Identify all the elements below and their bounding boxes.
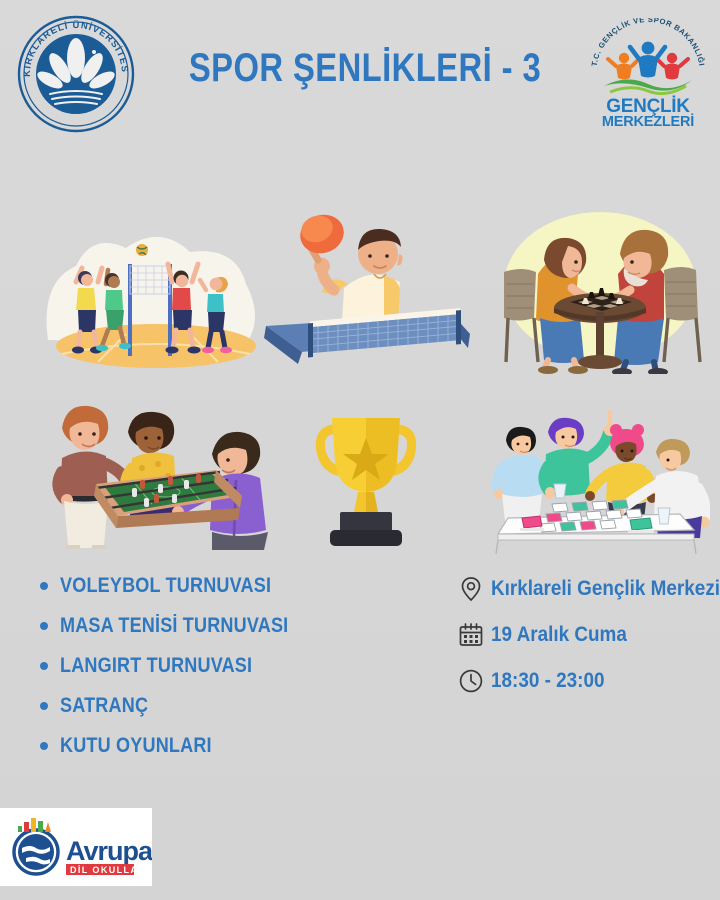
event-label: LANGIRT TURNUVASI [60,654,252,678]
location-text: Kırklareli Gençlik Merkezi [491,577,720,601]
time-text: 18:30 - 23:00 [491,669,604,693]
event-list: VOLEYBOL TURNUVASI MASA TENİSİ TURNUVASI… [40,566,370,766]
sponsor-logos: Avrupa DİL OKULLARI [0,796,720,900]
table-tennis-illustration [256,198,488,372]
avrupa-wordmark: Avrupa [66,836,152,866]
date-text: 19 Aralık Cuma [491,623,627,647]
event-details: Kırklareli Gençlik Merkezi 19 Aralık Cum… [458,566,718,704]
calendar-icon [458,622,484,648]
location-pin-icon [458,576,484,602]
trophy-illustration [302,396,430,552]
poster-header: KIRKLARELİ ÜNİVERSİTESİ 2007 SPOR ŞENLİK… [0,0,720,148]
date-row: 19 Aralık Cuma [458,612,718,658]
event-label: KUTU OYUNLARI [60,734,212,758]
list-item: MASA TENİSİ TURNUVASI [40,606,370,646]
genclik-merkezleri-logo: T.C. GENÇLİK VE SPOR BAKANLIĞI [586,18,710,130]
bullet-icon [40,662,48,670]
time-row: 18:30 - 23:00 [458,658,718,704]
list-item: SATRANÇ [40,686,370,726]
clock-icon [458,668,484,694]
bullet-icon [40,702,48,710]
chess-illustration [492,204,708,374]
bullet-icon [40,582,48,590]
list-item: LANGIRT TURNUVASI [40,646,370,686]
avrupa-subtitle: DİL OKULLARI [70,865,150,875]
event-label: SATRANÇ [60,694,148,718]
page-title: SPOR ŞENLİKLERİ - 3 [197,36,533,100]
event-label: MASA TENİSİ TURNUVASI [60,614,288,638]
location-row: Kırklareli Gençlik Merkezi [458,566,718,612]
avrupa-dil-okullari-logo: Avrupa DİL OKULLARI [0,808,152,886]
list-item: KUTU OYUNLARI [40,726,370,766]
bullet-icon [40,622,48,630]
poster-canvas: KIRKLARELİ ÜNİVERSİTESİ 2007 SPOR ŞENLİK… [0,0,720,900]
event-label: VOLEYBOL TURNUVASI [60,574,271,598]
bullet-icon [40,742,48,750]
kirklareli-universitesi-logo: KIRKLARELİ ÜNİVERSİTESİ 2007 [14,12,138,136]
gsb-title-line2: MERKEZLERİ [602,113,694,130]
foosball-illustration [40,388,272,550]
volleyball-illustration [40,222,272,372]
board-games-illustration [480,404,710,554]
list-item: VOLEYBOL TURNUVASI [40,566,370,606]
